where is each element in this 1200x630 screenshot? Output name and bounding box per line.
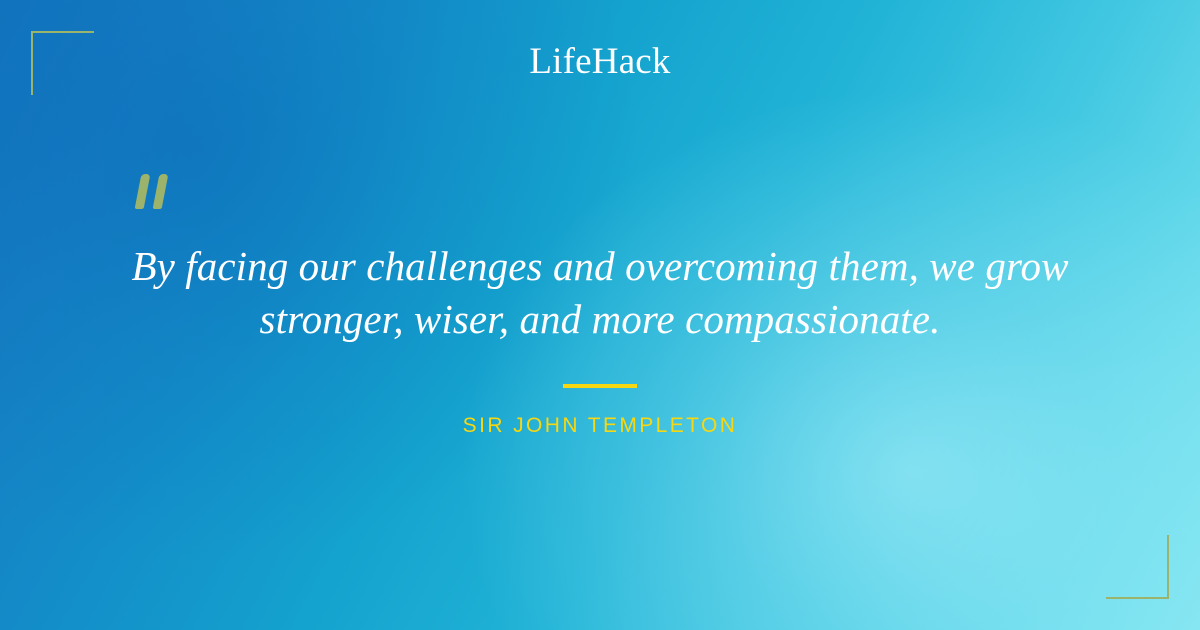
divider-rule (563, 384, 637, 388)
corner-bracket-bottom-right-icon (1106, 535, 1169, 599)
background-gradient-light-bloom (460, 90, 1200, 630)
quote-text: By facing our challenges and overcoming … (100, 240, 1100, 346)
double-quote-icon-stroke-left (135, 174, 151, 209)
brand-logo-text: LifeHack (529, 40, 670, 84)
quote-text-line-1: By facing our challenges and overcoming … (100, 240, 1100, 293)
quote-text-line-2: stronger, wiser, and more compassionate. (100, 293, 1100, 346)
brand-logo[interactable]: LifeHack (0, 40, 1200, 84)
double-quote-icon-stroke-right (153, 174, 169, 209)
corner-bracket-top-left-horizontal (31, 31, 94, 33)
quote-card: LifeHack By facing our challenges and ov… (0, 0, 1200, 630)
double-quote-icon (130, 158, 190, 222)
corner-bracket-bottom-right-horizontal (1106, 597, 1169, 599)
corner-bracket-bottom-right-vertical (1167, 535, 1169, 599)
quote-author: SIR JOHN TEMPLETON (0, 412, 1200, 440)
